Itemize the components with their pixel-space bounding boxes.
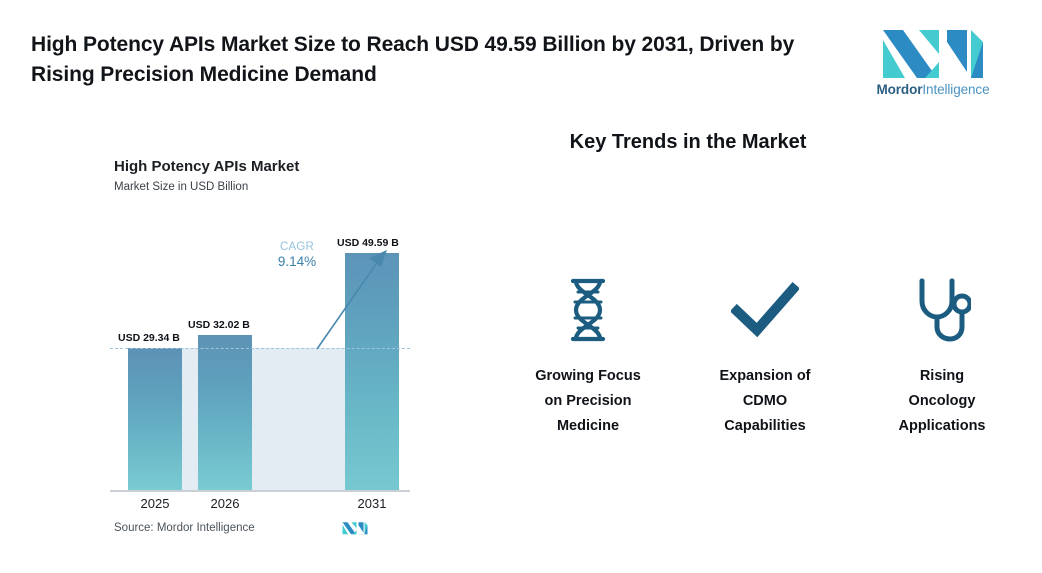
check-mark-icon [731, 270, 799, 350]
bar-chart-plot: USD 29.34 B USD 32.02 B USD 49.59 B CAGR… [110, 240, 410, 490]
trend-label-precision-medicine: Growing Focuson PrecisionMedicine [535, 364, 641, 439]
growth-arrow-icon [315, 247, 395, 352]
background-band [182, 348, 198, 490]
brand-word-intelligence: Intelligence [922, 82, 989, 97]
bar-value-label-2026: USD 32.02 B [188, 319, 250, 331]
trend-label-cdmo-capabilities: Expansion ofCDMOCapabilities [719, 364, 810, 439]
x-tick-label-2031: 2031 [332, 496, 412, 511]
background-band [252, 348, 345, 490]
chart-subtitle: Market Size in USD Billion [114, 181, 248, 193]
brand-word-mordor: Mordor [876, 82, 922, 97]
page-title: High Potency APIs Market Size to Reach U… [31, 30, 831, 90]
x-axis-line [110, 490, 410, 492]
dna-helix-icon [565, 270, 611, 350]
trend-item-precision-medicine: Growing Focuson PrecisionMedicine [500, 270, 676, 439]
x-tick-label-2026: 2026 [185, 496, 265, 511]
brand-wordmark: MordorIntelligence [872, 82, 994, 97]
mordor-intelligence-mi-mark [881, 28, 985, 78]
trend-label-oncology-applications: RisingOncologyApplications [898, 364, 985, 439]
source-mordor-intelligence-mi-mark [342, 518, 368, 538]
poster-root: High Potency APIs Market Size to Reach U… [0, 0, 1042, 573]
x-tick-label-2025: 2025 [115, 496, 195, 511]
brand-logo: MordorIntelligence [872, 28, 994, 97]
chart-title: High Potency APIs Market [114, 158, 299, 175]
bar-2026 [198, 335, 252, 490]
trend-item-oncology-applications: RisingOncologyApplications [854, 270, 1030, 439]
trend-item-cdmo-capabilities: Expansion ofCDMOCapabilities [677, 270, 853, 439]
key-trends-heading: Key Trends in the Market [533, 131, 843, 154]
bar-2025 [128, 348, 182, 490]
bar-value-label-2025: USD 29.34 B [118, 332, 180, 344]
key-trends-list: Growing Focuson PrecisionMedicine Expans… [500, 270, 1030, 439]
chart-source-label: Source: Mordor Intelligence [114, 522, 255, 534]
stethoscope-icon [913, 270, 971, 350]
